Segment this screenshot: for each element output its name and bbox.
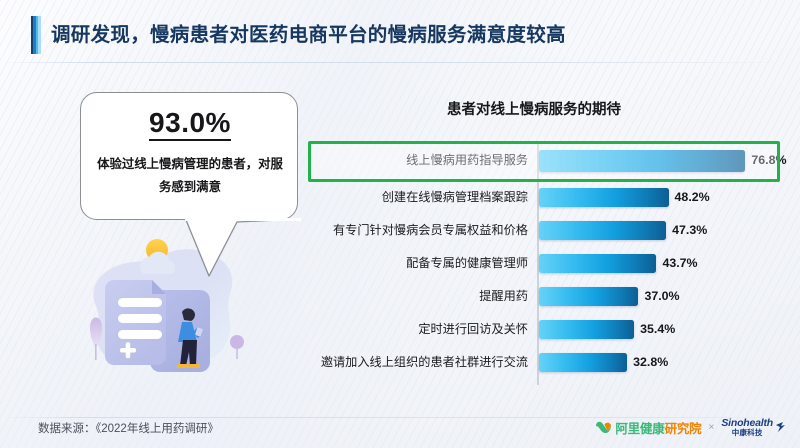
chart-category-label: 创建在线慢病管理档案跟踪 [382,181,528,214]
chart-bar [539,221,666,240]
chart-bar-value: 37.0% [644,280,679,313]
callout-percent: 93.0% [81,107,299,139]
chart-bar [539,188,669,207]
sinohealth-logo-cn: 中康科技 [732,429,763,437]
source-note: 数据来源：《2022年线上用药调研》 [38,420,219,436]
alihealth-logo: 阿里健康研究院 [595,418,701,437]
chart-row: 定时进行回访及关怀35.4% [300,313,792,346]
chart-bar [539,320,634,339]
footer-logos: 阿里健康研究院 × Sinohealth 中康科技 [595,414,786,440]
title-accent-bar [31,16,41,54]
chart-category-label: 有专门针对慢病会员专属权益和价格 [333,214,528,247]
callout-description: 体验过线上慢病管理的患者，对服务感到满意 [95,153,285,199]
page-title: 调研发现，慢病患者对医药电商平台的慢病服务满意度较高 [51,18,566,47]
chart-row: 创建在线慢病管理档案跟踪48.2% [300,181,792,214]
chart-category-label: 提醒用药 [479,280,528,313]
document-line [118,330,162,339]
chart-bar [539,353,627,372]
document-line [118,314,162,323]
chart-bar-value: 47.3% [672,214,707,247]
chart-row: 邀请加入线上组织的患者社群进行交流32.8% [300,346,792,379]
document-line [118,298,162,307]
chart-bar-value: 48.2% [675,181,710,214]
sinohealth-mark-icon [775,421,786,433]
callout-bubble: 93.0% 体验过线上慢病管理的患者，对服务感到满意 [80,92,298,220]
sinohealth-logo: Sinohealth 中康科技 [721,418,786,437]
chart-row: 配备专属的健康管理师43.7% [300,247,792,280]
chart-category-label: 配备专属的健康管理师 [406,247,528,280]
callout-bubble-tail [185,218,301,280]
chart-title: 患者对线上慢病服务的期待 [300,98,768,119]
chart-bar-value: 32.8% [633,346,668,379]
slide-header: 调研发现，慢病患者对医药电商平台的慢病服务满意度较高 [0,0,800,66]
sinohealth-logo-en: Sinohealth [721,418,773,429]
chart-bar-value: 43.7% [662,247,697,280]
chart-row: 有专门针对慢病会员专属权益和价格47.3% [300,214,792,247]
chart-bar [539,254,656,273]
logo-separator: × [708,422,714,433]
alihealth-logo-text: 阿里健康研究院 [615,418,701,437]
chart-bar-value: 35.4% [640,313,675,346]
highlight-box [308,141,780,182]
checkmark-icon [595,420,612,434]
chart-bar [539,287,638,306]
chart-category-label: 定时进行回访及关怀 [418,313,528,346]
chart-category-label: 邀请加入线上组织的患者社群进行交流 [321,346,528,379]
header-divider [0,62,800,63]
tree-left [90,318,102,361]
slide-canvas: 调研发现，慢病患者对医药电商平台的慢病服务满意度较高 [0,0,800,448]
expectations-bar-chart: 患者对线上慢病服务的期待 线上慢病用药指导服务76.8%创建在线慢病管理档案跟踪… [300,92,792,402]
chart-row: 提醒用药37.0% [300,280,792,313]
tree-right [230,335,244,359]
